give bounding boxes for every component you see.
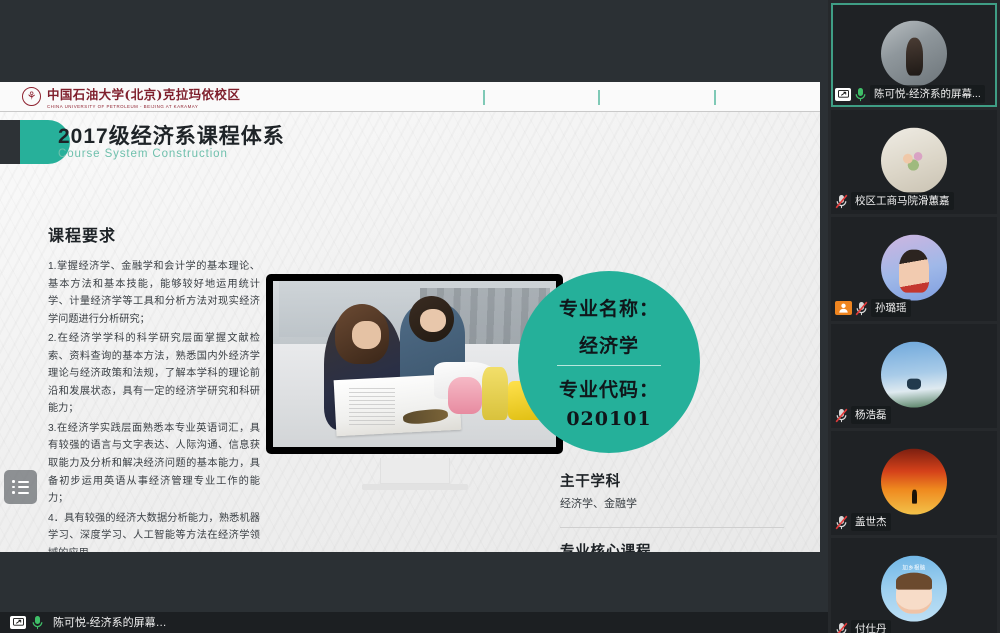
slide-title-block: 2017级经济系课程体系 Course System Construction [0, 120, 820, 174]
participant-name: 校区工商马院滑蕙嘉 [851, 192, 954, 210]
list-icon[interactable] [4, 470, 37, 504]
page-title: 2017级经济系课程体系 [58, 120, 285, 150]
mic-off-icon [835, 515, 848, 530]
major-code-label: 专业代码： [559, 375, 659, 402]
presentation-slide: 中国石油大学(北京)克拉玛依校区 CHINA UNIVERSITY OF PET… [0, 82, 820, 552]
host-badge-icon [835, 301, 852, 315]
participant-tile[interactable]: 盖世杰 [831, 431, 997, 535]
major-name-label: 专业名称： [559, 294, 659, 321]
avatar [881, 342, 947, 408]
participant-name: 付仕丹 [851, 620, 891, 633]
screen-share-icon [10, 616, 26, 629]
participants-panel[interactable]: 陈可悦-经济系的屏幕... 校区工商马院滑蕙嘉 孙璐瑶 [828, 0, 1000, 633]
monitor-base [362, 484, 468, 490]
mic-on-icon [31, 615, 44, 630]
participant-tile[interactable]: 校区工商马院滑蕙嘉 [831, 110, 997, 214]
avatar [881, 235, 947, 301]
share-status-label: 陈可悦-经济系的屏幕共享 [49, 613, 177, 632]
requirement-item: 3.在经济学实践层面熟悉本专业英语词汇，具有较强的语言与文字表达、人际沟通、信息… [48, 420, 260, 508]
requirements-heading: 课程要求 [48, 222, 260, 246]
university-logo: 中国石油大学(北京)克拉玛依校区 CHINA UNIVERSITY OF PET… [22, 84, 240, 109]
screen-share-icon [835, 88, 851, 101]
monitor-neck [380, 458, 450, 484]
major-info-circle: 专业名称： 经济学 专业代码： 020101 [518, 271, 700, 453]
avatar [881, 21, 947, 87]
avatar-caption: 加乡根脑 [881, 564, 947, 572]
university-seal-icon [22, 87, 41, 106]
participant-tile[interactable]: 陈可悦-经济系的屏幕... [831, 3, 997, 107]
requirement-item: 1.掌握经济学、金融学和会计学的基本理论、基本方法和基本技能，能够较好地运用统计… [48, 258, 260, 328]
avatar [881, 128, 947, 194]
participant-name: 盖世杰 [851, 513, 891, 531]
requirement-item: 4．具有较强的经济大数据分析能力，熟悉机器学习、深度学习、人工智能等方法在经济学… [48, 510, 260, 552]
main-subjects-heading: 主干学科 [560, 470, 792, 491]
mic-off-icon [835, 194, 848, 209]
shared-screen-area: 中国石油大学(北京)克拉玛依校区 CHINA UNIVERSITY OF PET… [0, 0, 828, 612]
participant-name: 陈可悦-经济系的屏幕... [870, 85, 985, 103]
requirements-column: 课程要求 1.掌握经济学、金融学和会计学的基本理论、基本方法和基本技能，能够较好… [48, 222, 260, 552]
university-name-en: CHINA UNIVERSITY OF PETROLEUM - BEIJING … [47, 104, 240, 109]
participant-tile[interactable]: 加乡根脑 付仕丹 [831, 538, 997, 633]
meeting-window: 中国石油大学(北京)克拉玛依校区 CHINA UNIVERSITY OF PET… [0, 0, 1000, 633]
share-status-bar: 陈可悦-经济系的屏幕共享 [0, 612, 828, 633]
slide-header: 中国石油大学(北京)克拉玛依校区 CHINA UNIVERSITY OF PET… [0, 82, 820, 112]
core-courses-heading: 专业核心课程 [560, 540, 792, 552]
requirement-item: 2.在经济学学科的科学研究层面掌握文献检索、资料查询的基本方法，熟悉国内外经济学… [48, 330, 260, 418]
header-tick-marks [480, 90, 820, 106]
participant-name: 孙璐瑶 [871, 299, 911, 317]
course-info-column: 主干学科 经济学、金融学 专业核心课程 宏观经济学、微观经济学、计量经济学、会计… [560, 470, 792, 552]
mic-off-icon [855, 301, 868, 316]
participant-tile[interactable]: 孙璐瑶 [831, 217, 997, 321]
circle-divider [557, 365, 661, 367]
mic-off-icon [835, 408, 848, 423]
avatar [881, 449, 947, 515]
mic-off-icon [835, 622, 848, 633]
mic-on-icon [854, 87, 867, 102]
page-subtitle: Course System Construction [58, 148, 228, 160]
participant-tile[interactable]: 杨浩磊 [831, 324, 997, 428]
classroom-photo [273, 281, 556, 447]
avatar: 加乡根脑 [881, 556, 947, 622]
section-divider [560, 527, 784, 528]
monitor-mockup [266, 274, 563, 490]
main-subjects-body: 经济学、金融学 [560, 496, 792, 514]
university-name-cn: 中国石油大学(北京)克拉玛依校区 [47, 84, 240, 103]
participant-name: 杨浩磊 [851, 406, 891, 424]
major-code-value: 020101 [566, 408, 651, 430]
major-name-value: 经济学 [579, 331, 639, 358]
title-dark-tab [0, 120, 20, 164]
